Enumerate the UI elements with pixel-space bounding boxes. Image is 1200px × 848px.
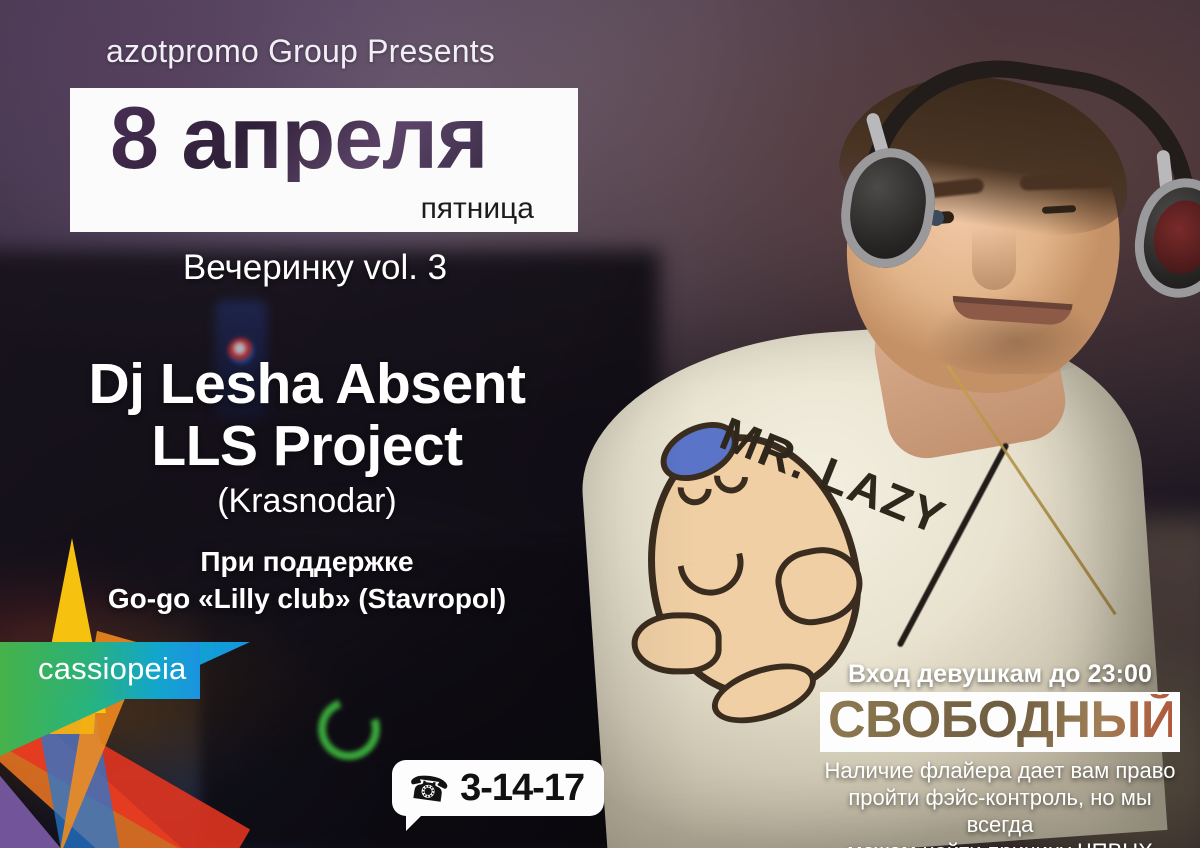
date-main: 8 апреля — [110, 94, 487, 182]
phone-badge[interactable]: ☎ 3-14-17 — [392, 760, 604, 816]
logo-wordmark: cassiopeia — [38, 651, 186, 687]
event-poster: MR. LAZY azotpromo Group Presents 8 апре… — [0, 0, 1200, 848]
entry-note-line-2: пройти фэйс-контроль, но мы всегда — [820, 785, 1180, 839]
phone-number: 3-14-17 — [460, 767, 584, 810]
entry-info-block: Вход девушкам до 23:00 СВОБОДНЫЙ Наличие… — [820, 660, 1180, 848]
date-weekday: пятница — [421, 192, 534, 226]
presenter-line: azotpromo Group Presents — [106, 33, 495, 70]
entry-note-line-3: можем найти причину ЧПВНХ — [820, 839, 1180, 848]
artist-line-2: LLS Project — [0, 416, 614, 478]
entry-note: Наличие флайера дает вам право пройти фэ… — [820, 758, 1180, 848]
entry-note-line-1: Наличие флайера дает вам право — [820, 758, 1180, 785]
event-volume: Вечеринку vol. 3 — [0, 248, 630, 288]
entry-highlight-bar: СВОБОДНЫЙ — [820, 692, 1180, 752]
entry-highlight-text: СВОБОДНЫЙ — [828, 694, 1172, 747]
phone-handset-icon: ☎ — [406, 769, 451, 807]
date-banner: 8 апреля пятница — [70, 88, 578, 232]
artist-names: Dj Lesha Absent LLS Project — [0, 354, 614, 477]
artist-city: (Krasnodar) — [0, 482, 614, 521]
artist-line-1: Dj Lesha Absent — [89, 352, 526, 416]
cassiopeia-logo[interactable]: cassiopeia — [0, 520, 330, 848]
entry-headline: Вход девушкам до 23:00 — [820, 660, 1180, 689]
